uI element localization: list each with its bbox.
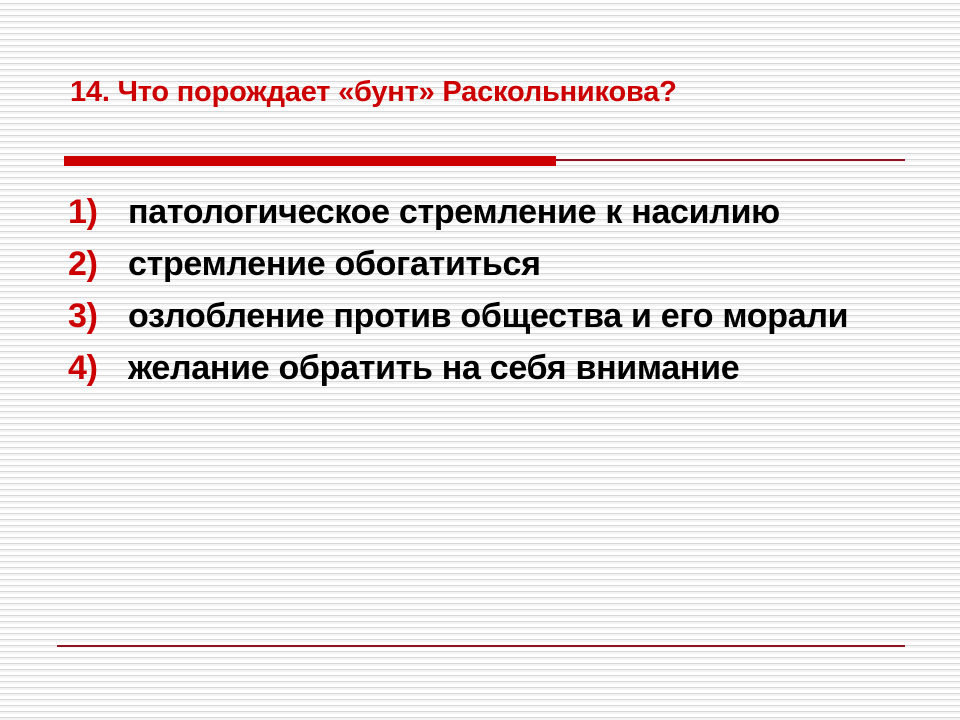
page-title: 14. Что порождает «бунт» Раскольникова? [70,74,900,110]
answer-marker: 1) [68,190,124,234]
answer-list: 1) патологическое стремление к насилию 2… [62,190,892,398]
divider-thin-line [556,159,905,161]
answer-text: стремление обогатиться [128,242,892,286]
answer-marker: 4) [68,346,124,390]
answer-text: озлобление против общества и его морали [128,294,892,338]
answer-marker: 2) [68,242,124,286]
title-divider [64,156,905,166]
slide-canvas: 14. Что порождает «бунт» Раскольникова? … [0,0,960,720]
divider-thick-bar [64,156,556,166]
bottom-rule [57,645,905,647]
answer-text: желание обратить на себя внимание [128,346,892,390]
answer-option-3[interactable]: 3) озлобление против общества и его мора… [62,294,892,338]
answer-marker: 3) [68,294,124,338]
answer-option-1[interactable]: 1) патологическое стремление к насилию [62,190,892,234]
answer-text: патологическое стремление к насилию [128,190,892,234]
answer-option-2[interactable]: 2) стремление обогатиться [62,242,892,286]
answer-option-4[interactable]: 4) желание обратить на себя внимание [62,346,892,390]
